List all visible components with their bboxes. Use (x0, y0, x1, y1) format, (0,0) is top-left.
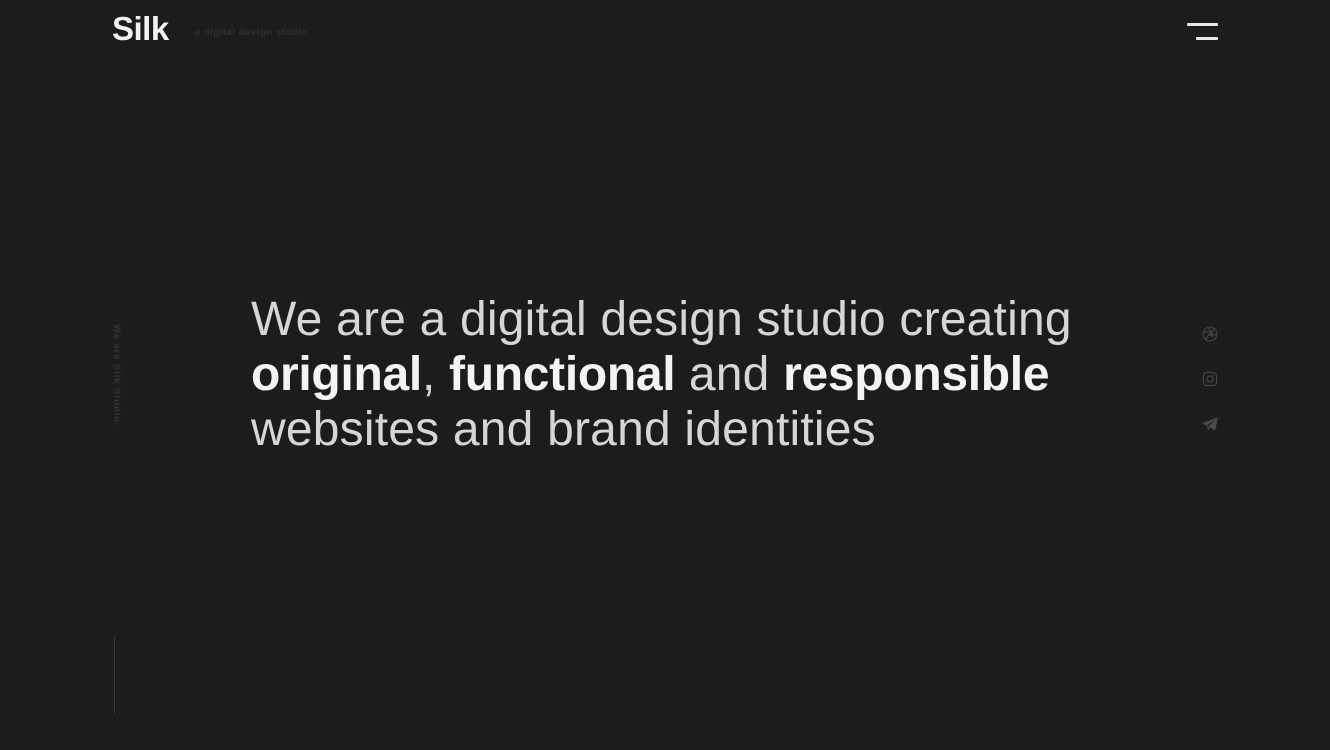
hero-line-2-conjunction: and (675, 348, 783, 401)
social-link-instagram[interactable] (1196, 370, 1224, 398)
hero-emphasis-responsible: responsible (783, 348, 1049, 401)
vertical-side-label: We are Silk Studio. (108, 324, 124, 436)
hero-line-1-text: We are a digital design studio creating (251, 293, 1072, 346)
scroll-indicator-rule (114, 637, 115, 714)
vertical-side-label-text: We are Silk Studio. (111, 324, 121, 426)
hero-emphasis-functional: functional (449, 348, 675, 401)
hero-line-2-comma: , (422, 348, 449, 401)
hero-line-1: We are a digital design studio creating (251, 292, 971, 347)
social-link-dribbble[interactable] (1196, 325, 1224, 353)
social-links (1196, 320, 1224, 460)
brand-tagline: a digital design studio. (195, 27, 311, 38)
dribbble-icon (1201, 325, 1219, 343)
hero-headline: We are a digital design studio creating … (251, 292, 971, 457)
menu-toggle-button[interactable] (1186, 16, 1218, 42)
hamburger-icon-bar-top (1187, 23, 1218, 26)
hero-line-3-text: websites and brand identities (251, 403, 876, 456)
telegram-icon (1201, 415, 1219, 433)
brand[interactable]: Silk a digital design studio. (112, 12, 311, 45)
social-link-telegram[interactable] (1196, 415, 1224, 443)
hamburger-icon-bar-bottom (1196, 37, 1218, 40)
hero-emphasis-original: original (251, 348, 422, 401)
hero-line-2: original, functional and responsible (251, 347, 971, 402)
landing-page: Silk a digital design studio. We are Sil… (0, 0, 1330, 750)
hero-line-3: websites and brand identities (251, 402, 971, 457)
instagram-icon (1201, 370, 1219, 388)
site-header: Silk a digital design studio. (0, 0, 1330, 66)
brand-logo: Silk (112, 12, 169, 45)
